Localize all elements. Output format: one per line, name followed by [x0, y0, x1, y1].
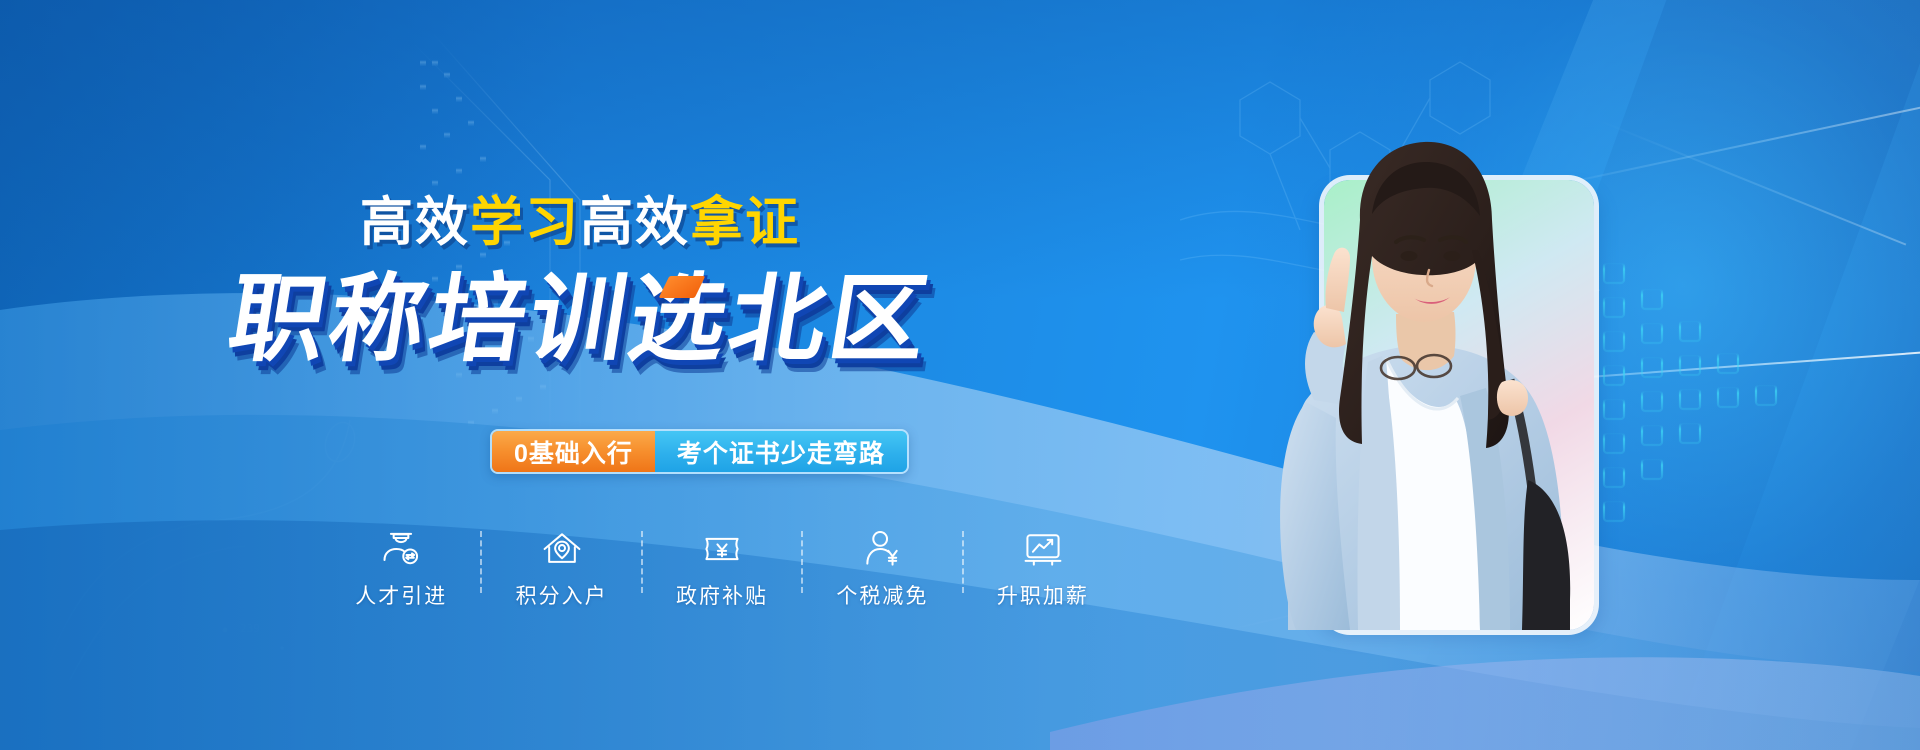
house-pin-icon — [540, 527, 584, 571]
feature-label: 个税减免 — [836, 580, 928, 610]
headline-part-4: 拿证 — [690, 193, 800, 252]
growth-chart-icon — [1021, 527, 1065, 571]
feature-item-tax-reduction[interactable]: 个税减免 — [803, 527, 961, 610]
badge-right-label: 考个证书少走弯路 — [655, 431, 907, 472]
feature-label: 人才引进 — [355, 580, 447, 610]
feature-item-talent-introduction[interactable]: 人才引进 — [322, 527, 480, 610]
main-title-wrap: 职称培训选北区 — [0, 272, 1160, 368]
feature-label: 政府补贴 — [676, 580, 768, 610]
promo-banner: 239 — [0, 0, 1920, 750]
feature-item-promotion-raise[interactable]: 升职加薪 — [964, 527, 1122, 610]
feature-label: 升职加薪 — [997, 580, 1089, 610]
headline-part-1: 高效 — [360, 193, 470, 252]
feature-item-points-residency[interactable]: 积分入户 — [482, 527, 640, 610]
feature-list: 人才引进 积分入户 政府补贴 — [322, 527, 1122, 627]
instructor-photo — [1210, 100, 1630, 630]
headline: 高效学习高效拿证 — [0, 196, 1160, 249]
page-title: 职称培训选北区 — [222, 272, 937, 368]
ticket-yen-icon — [700, 527, 744, 571]
graduate-person-icon — [379, 527, 423, 571]
headline-part-3: 高效 — [580, 193, 690, 252]
headline-part-2: 学习 — [470, 193, 580, 252]
feature-label: 积分入户 — [516, 580, 608, 610]
badge-left-label: 0基础入行 — [492, 431, 655, 472]
badge: 0基础入行 考个证书少走弯路 — [490, 429, 909, 474]
person-yen-icon — [860, 527, 904, 571]
feature-item-government-subsidy[interactable]: 政府补贴 — [643, 527, 801, 610]
